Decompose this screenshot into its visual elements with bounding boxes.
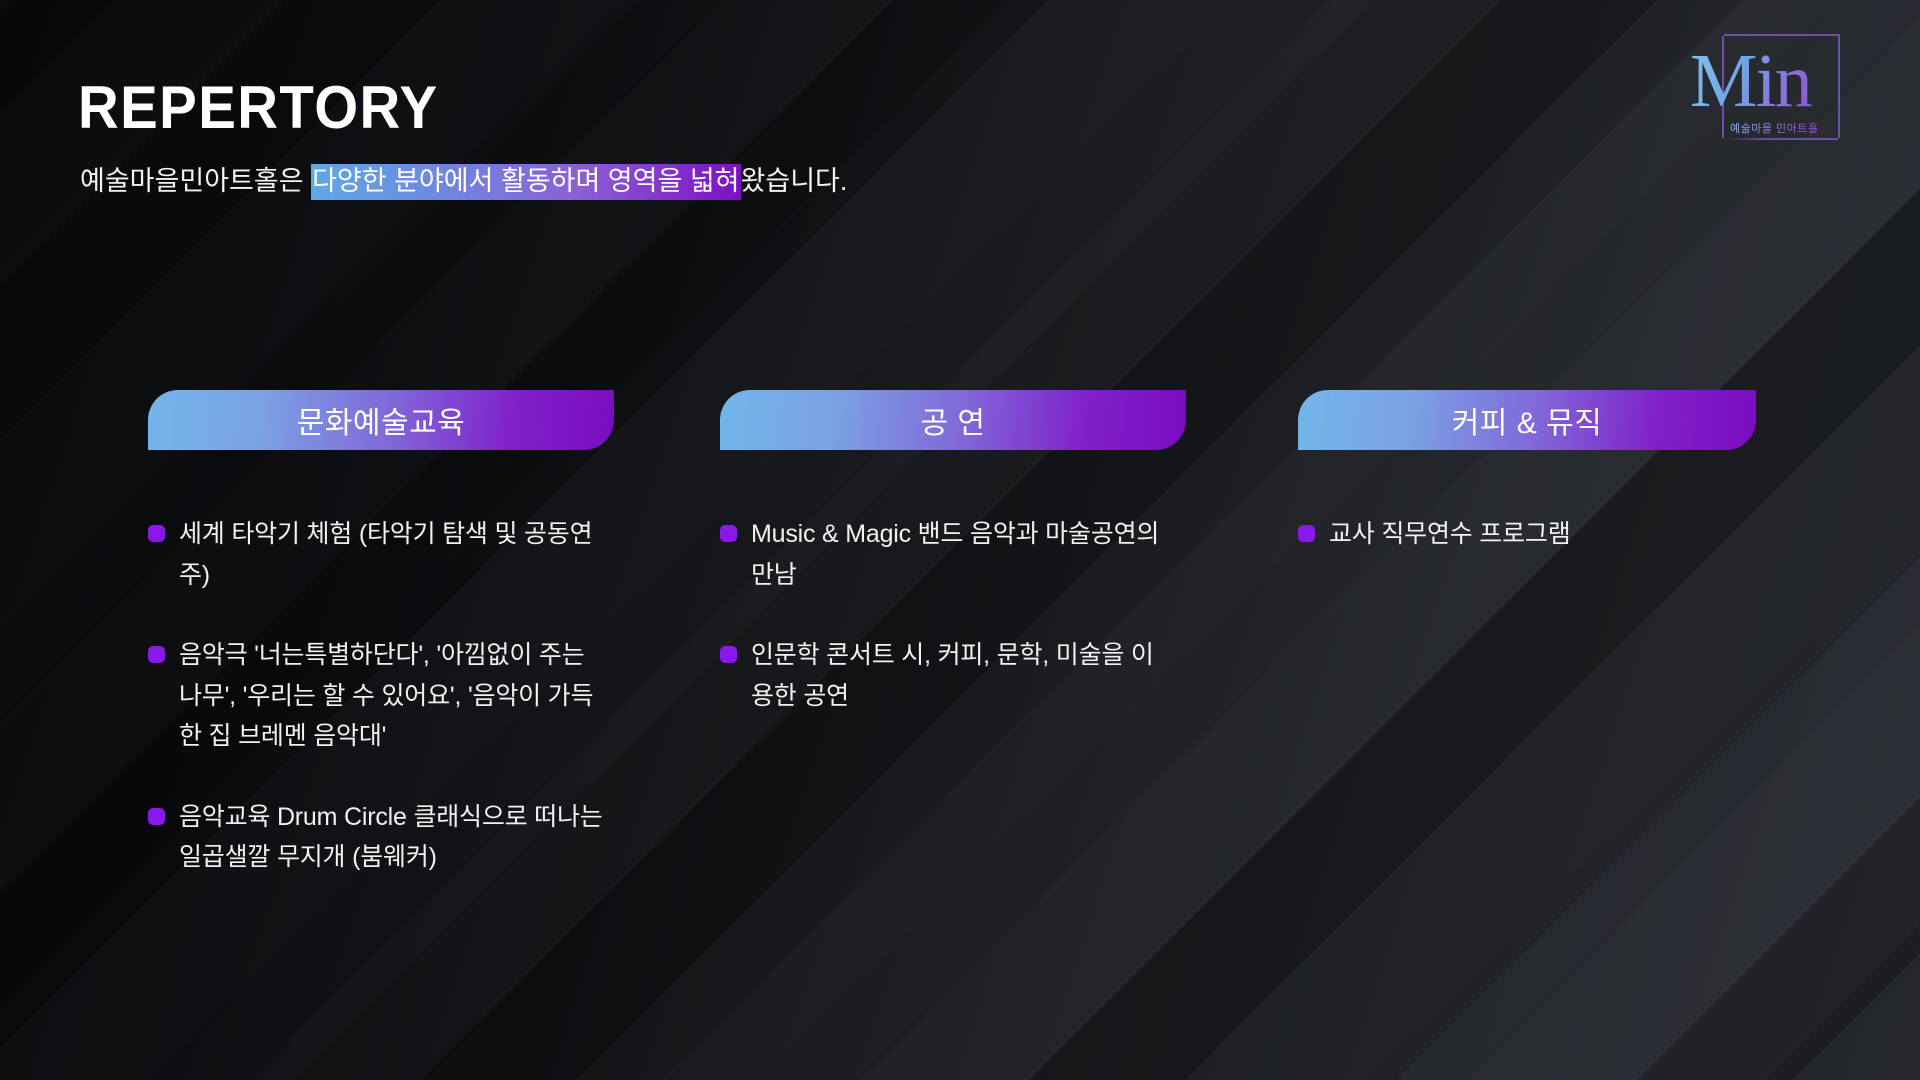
list-item-label: 인문학 콘서트 시, 커피, 문학, 미술을 이용한 공연	[751, 635, 1161, 716]
list-item-label: 음악극 '너는특별하단다', '아낌없이 주는 나무', '우리는 할 수 있어…	[179, 635, 609, 757]
logo-wordmark: Min	[1690, 42, 1830, 120]
list-item: 음악극 '너는특별하단다', '아낌없이 주는 나무', '우리는 할 수 있어…	[148, 635, 618, 757]
subtitle-tail: 왔습니다.	[741, 166, 848, 196]
column-header: 커피 & 뮤직	[1298, 390, 1756, 450]
column-performance: 공 연 Music & Magic 밴드 음악과 마술공연의 만남 인문학 콘서…	[720, 390, 1190, 756]
list-item-label: 세계 타악기 체험 (타악기 탐색 및 공동연주)	[179, 514, 609, 595]
list-item: 음악교육 Drum Circle 클래식으로 떠나는 일곱샐깔 무지개 (붐웨커…	[148, 797, 618, 878]
bullet-square-icon	[148, 646, 165, 663]
brand-logo: Min 예술마을 민아트홀	[1690, 28, 1842, 146]
list-item: 세계 타악기 체험 (타악기 탐색 및 공동연주)	[148, 514, 618, 595]
list-item: Music & Magic 밴드 음악과 마술공연의 만남	[720, 514, 1190, 595]
page-title: REPERTORY	[78, 78, 439, 138]
bullet-square-icon	[148, 525, 165, 542]
column-cultural-arts-education: 문화예술교육 세계 타악기 체험 (타악기 탐색 및 공동연주) 음악극 '너는…	[148, 390, 618, 918]
list-item: 교사 직무연수 프로그램	[1298, 514, 1768, 555]
slide-canvas: REPERTORY 예술마을민아트홀은 다양한 분야에서 활동하며 영역을 넓혀…	[0, 0, 1920, 1080]
list-item: 인문학 콘서트 시, 커피, 문학, 미술을 이용한 공연	[720, 635, 1190, 716]
list-item-label: 음악교육 Drum Circle 클래식으로 떠나는 일곱샐깔 무지개 (붐웨커…	[179, 797, 609, 878]
bullet-square-icon	[148, 808, 165, 825]
subtitle-lead: 예술마을민아트홀은	[80, 166, 311, 196]
column-bullet-list: 세계 타악기 체험 (타악기 탐색 및 공동연주) 음악극 '너는특별하단다',…	[148, 514, 618, 878]
list-item-label: 교사 직무연수 프로그램	[1329, 514, 1759, 555]
list-item-label: Music & Magic 밴드 음악과 마술공연의 만남	[751, 514, 1161, 595]
subtitle: 예술마을민아트홀은 다양한 분야에서 활동하며 영역을 넓혀왔습니다.	[80, 165, 847, 199]
logo-caption: 예술마을 민아트홀	[1730, 120, 1819, 136]
column-bullet-list: 교사 직무연수 프로그램	[1298, 514, 1768, 555]
bullet-square-icon	[720, 646, 737, 663]
column-bullet-list: Music & Magic 밴드 음악과 마술공연의 만남 인문학 콘서트 시,…	[720, 514, 1190, 716]
bullet-square-icon	[720, 525, 737, 542]
subtitle-highlight: 다양한 분야에서 활동하며 영역을 넓혀	[311, 164, 740, 200]
column-header: 공 연	[720, 390, 1186, 450]
bullet-square-icon	[1298, 525, 1315, 542]
column-coffee-and-music: 커피 & 뮤직 교사 직무연수 프로그램	[1298, 390, 1768, 595]
column-header: 문화예술교육	[148, 390, 614, 450]
